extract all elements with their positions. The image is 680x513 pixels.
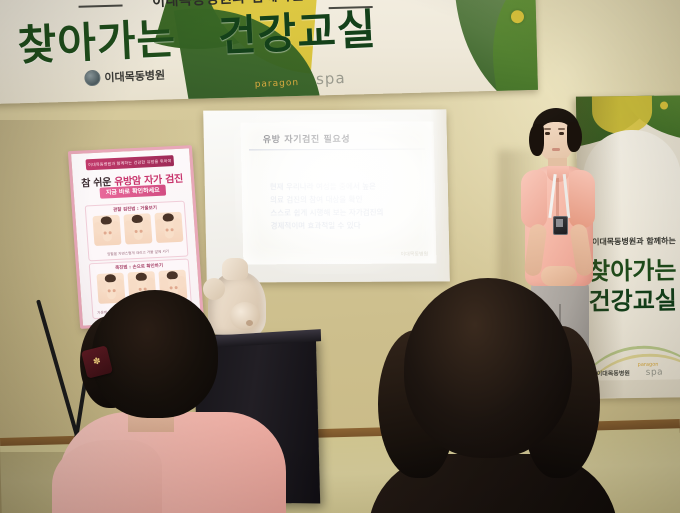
figure-marker [104, 231, 107, 234]
sponsor-spa-text: spa [316, 69, 346, 88]
poster-panel-note: 양팔을 자연스럽게 내리고 거울 앞에 서기 [93, 249, 183, 258]
presenter-mouth [552, 148, 560, 151]
slide-body: 현재 우리나라 여성들 중에서 높은 의료 검진의 참여 대상을 확인 스스로 … [270, 180, 421, 233]
projected-slide: 유방 자기검진 필요성 현재 우리나라 여성들 중에서 높은 의료 검진의 참여… [240, 121, 436, 264]
slide-footer-logo: 이대목동병원 [401, 250, 429, 257]
poster-figure [123, 213, 152, 244]
audience-member-front-right [352, 278, 622, 513]
presenter-eye-right [559, 132, 564, 135]
id-badge-photo [556, 219, 563, 227]
presenter-hair-side-left [529, 124, 544, 156]
audience-left-hair [92, 290, 218, 418]
figure-marker [170, 228, 173, 231]
figure-marker [175, 286, 178, 289]
presenter-sleeve-right [569, 170, 595, 228]
mannequin-neck [222, 258, 248, 280]
banner-hospital-logo: 이대목동병원 [84, 67, 165, 87]
poster-ribbon: 이대목동병원과 함께하는 건강한 유방을 위하여 [85, 155, 174, 170]
figure-marker [170, 286, 173, 289]
slide-bullet: 경제적이며 효과적일 수 있다 [270, 219, 420, 233]
rollup-yellow-dot [660, 101, 668, 109]
slide-title-rule [249, 148, 425, 150]
audience-member-front-left: ✽ [52, 290, 282, 513]
figure-marker [135, 230, 138, 233]
slide-bullet: 스스로 쉽게 시행해 보는 자가검진의 [270, 206, 420, 220]
poster-figure [154, 212, 183, 243]
figure-marker [140, 230, 143, 233]
sponsor-paragon-text: paragon [255, 78, 300, 90]
banner-title-part1: 찾아가는 [17, 14, 178, 70]
poster-panel-observation: 관찰 검진법 : 거울보기 [85, 201, 189, 262]
slide-bullet: 현재 우리나라 여성들 중에서 높은 [270, 180, 420, 194]
audience-right-hair [404, 278, 572, 458]
slide-title: 유방 자기검진 필요성 [263, 132, 351, 145]
photo-scene: 이대목동병원과 함께하는 찾아가는건강교실 이대목동병원 paragon spa… [0, 0, 680, 513]
presenter-eyebrow-left [544, 128, 551, 130]
presenter-eye-left [545, 132, 550, 135]
presenter-sleeve-left [521, 170, 547, 228]
figure-marker [109, 231, 112, 234]
hospital-emblem-icon [84, 70, 101, 87]
poster-subtitle: 지금 바로 확인하세요 [99, 185, 166, 199]
rollup-sponsor-spa: spa [646, 368, 664, 378]
poster-figure-row [92, 212, 183, 246]
main-banner: 이대목동병원과 함께하는 찾아가는건강교실 이대목동병원 paragon spa [0, 0, 538, 104]
figure-marker [165, 228, 168, 231]
banner-sponsor-logo: paragon spa [254, 68, 346, 91]
presenter-eyebrow-right [558, 128, 565, 130]
banner-title-part2: 건강교실 [217, 4, 378, 60]
projection-screen: 유방 자기검진 필요성 현재 우리나라 여성들 중에서 높은 의료 검진의 참여… [203, 109, 450, 282]
slide-bullet: 의료 검진의 참여 대상을 확인 [270, 193, 420, 207]
banner-hospital-logo-text: 이대목동병원 [104, 67, 165, 86]
presenter-hair-side-right [567, 122, 582, 152]
poster-figure [92, 215, 121, 246]
